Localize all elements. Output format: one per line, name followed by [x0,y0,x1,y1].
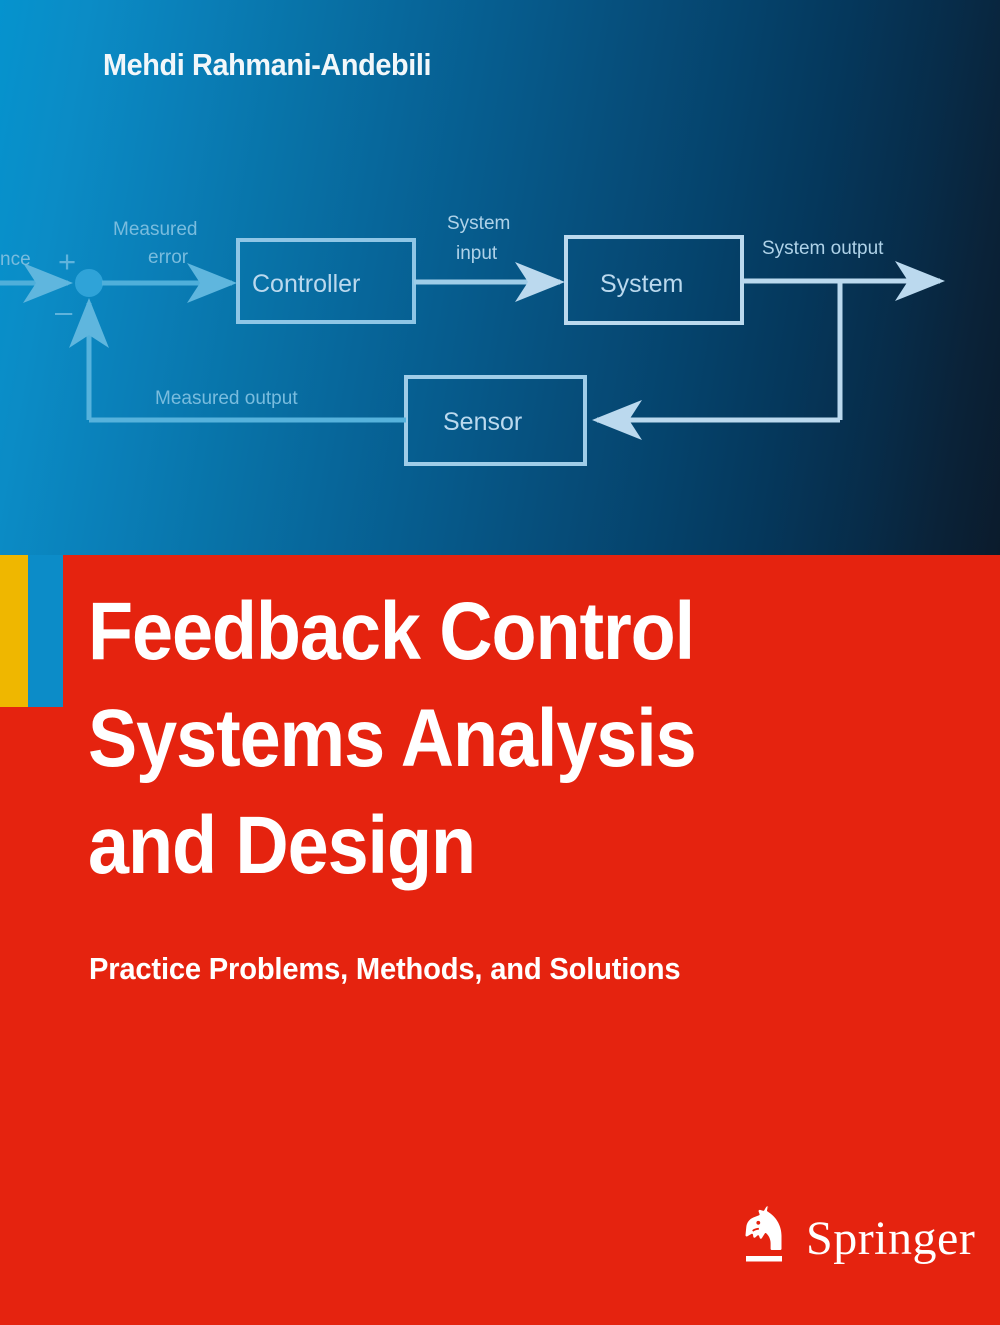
summing-plus-sign: + [58,244,76,279]
book-subtitle: Practice Problems, Methods, and Solution… [89,951,680,987]
label-system-input-line1: System [447,213,510,234]
label-measured-output: Measured output [155,388,298,409]
label-system-input-line2: input [456,243,498,264]
block-sensor-label: Sensor [443,408,522,436]
book-title: Feedback Control Systems Analysis and De… [88,578,908,899]
title-line-1: Feedback Control [88,578,826,685]
label-reference-clipped: nce [0,249,31,270]
system-output-line [742,281,940,420]
springer-wordmark: Springer [806,1215,975,1263]
label-measured-error-line1: Measured [113,219,198,240]
accent-bar-yellow [0,555,28,707]
book-cover: Mehdi Rahmani-Andebili + – [0,0,1000,1325]
springer-knight-icon [738,1205,796,1272]
block-system-label: System [600,270,683,298]
summing-minus-sign: – [55,294,73,329]
control-block-diagram: + – Controller System [0,0,1000,555]
springer-logo: Springer [738,1205,975,1272]
accent-bar-blue [28,555,63,707]
label-measured-error-line2: error [148,247,189,268]
block-controller-label: Controller [252,270,360,298]
title-line-2: Systems Analysis [88,685,826,792]
title-line-3: and Design [88,792,826,899]
label-system-output: System output [762,238,884,259]
summing-junction [76,270,102,296]
